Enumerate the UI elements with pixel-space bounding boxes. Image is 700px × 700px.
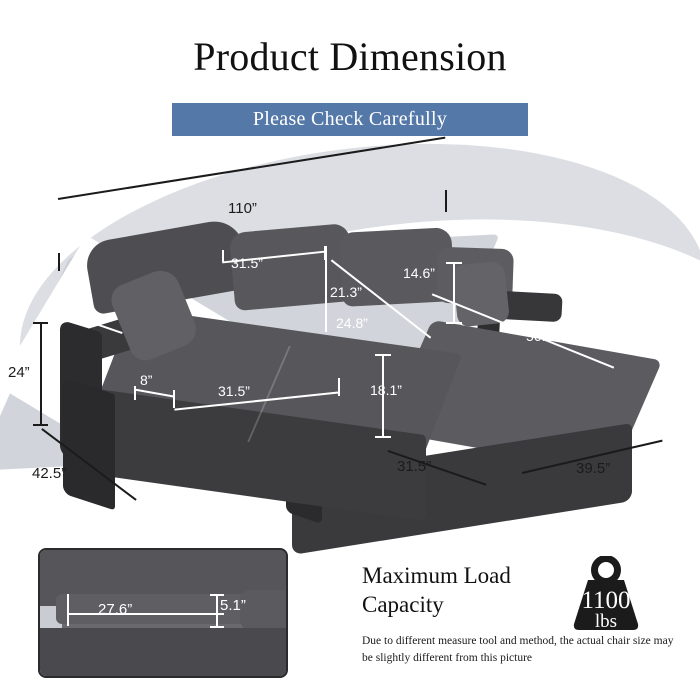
- label-back-cushion-width: 31.5”: [231, 255, 263, 271]
- label-chaise-width: 39.5”: [576, 460, 610, 477]
- seat-cushion-closeup-inset: 27.6” 5.1”: [38, 548, 288, 678]
- inset-bolster-pillow: [240, 590, 288, 630]
- label-seat-cushion-width: 31.5”: [218, 383, 250, 399]
- dim-tick-seat-cushion-right: [338, 378, 340, 396]
- dim-tick-cushion-left: [67, 594, 69, 626]
- sofa-diagram-scene: 31.5” 21.3” 14.6” 11.1” 24.8” 18.1” 56.3…: [0, 150, 700, 520]
- weight-unit: lbs: [595, 611, 617, 632]
- label-chaise-depth: 31.5”: [397, 458, 431, 475]
- label-seat-height: 18.1”: [370, 382, 402, 398]
- banner-label: Please Check Carefully: [253, 108, 447, 131]
- dim-tick-height-top: [33, 322, 48, 324]
- dim-tick-back-left: [222, 250, 224, 262]
- dim-tick-seat-cushion-left: [173, 390, 175, 408]
- dim-tick-pillow-bottom: [446, 322, 462, 324]
- dim-line-overall-height: [40, 322, 42, 426]
- label-throw-pillow: 14.6”: [403, 265, 435, 281]
- dim-tick-thickness-top: [210, 594, 224, 596]
- check-carefully-banner: Please Check Carefully: [172, 103, 528, 136]
- label-cushion-width: 27.6”: [98, 601, 132, 618]
- dim-line-cushion-thickness: [216, 594, 218, 628]
- sofa-left-side-face: [63, 378, 115, 511]
- inset-sofa-base: [38, 628, 288, 678]
- max-load-title: Maximum Load Capacity: [362, 561, 562, 619]
- measurement-disclaimer: Due to different measure tool and method…: [362, 633, 674, 667]
- max-load-title-line1: Maximum Load: [362, 561, 562, 590]
- label-arm-thickness: 8”: [140, 372, 152, 388]
- label-back-cushion-height: 21.3”: [330, 284, 362, 300]
- dim-tick-width-right: [445, 190, 447, 212]
- throw-pillow-right: [452, 260, 510, 327]
- weight-value: 1100: [581, 587, 630, 614]
- label-chaise-length: 56.3”: [526, 328, 558, 344]
- weight-icon: 1100 lbs: [568, 556, 644, 634]
- label-arm-width: 11.1”: [76, 313, 102, 327]
- label-overall-width: 110”: [228, 200, 257, 217]
- dim-line-cushion-width: [68, 613, 224, 615]
- dim-tick-arm-thickness-left: [134, 386, 136, 400]
- dim-tick-thickness-bottom: [210, 626, 224, 628]
- page-title: Product Dimension: [0, 33, 700, 80]
- dim-tick-seat-height-top: [375, 354, 391, 356]
- dim-line-back-cushion-height: [325, 246, 327, 332]
- dim-tick-seat-height-bottom: [375, 436, 391, 438]
- dim-line-throw-pillow: [453, 262, 455, 324]
- max-load-title-line2: Capacity: [362, 590, 562, 619]
- label-seat-diagonal: 24.8”: [336, 315, 368, 331]
- dim-tick-pillow-top: [446, 262, 462, 264]
- label-overall-height: 24”: [8, 364, 30, 381]
- label-cushion-thickness: 5.1”: [220, 597, 246, 614]
- product-dimension-infographic: Product Dimension Please Check Carefully: [0, 0, 700, 700]
- dim-tick-height-bottom: [33, 424, 48, 426]
- dim-tick-width-left: [58, 253, 60, 271]
- label-overall-depth: 42.5”: [32, 465, 66, 482]
